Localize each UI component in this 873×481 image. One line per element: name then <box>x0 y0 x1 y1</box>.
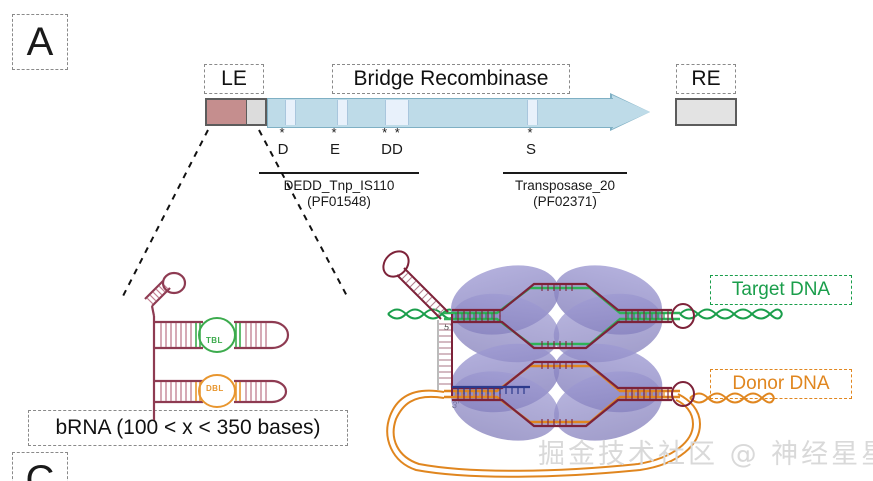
brna-top-hairpin <box>145 273 185 316</box>
brna-dbl-arm <box>154 375 286 407</box>
rna-loop-right-lower <box>672 382 694 406</box>
brna-structure <box>145 273 288 420</box>
leader-lines <box>122 130 348 298</box>
figure-root: A C LE Bridge Recombinase RE * D * E <box>0 0 873 481</box>
brna-tbl-arm <box>154 318 288 352</box>
brna-hairpin-upper-loop <box>378 246 413 281</box>
leader-line-left <box>122 130 208 298</box>
donor-dna-right-arm <box>690 394 774 403</box>
brna-hairpin-upper <box>378 246 448 319</box>
watermark: 掘金技术社区 @ 神经星星 <box>538 432 873 471</box>
target-dna-right-arm <box>680 310 782 319</box>
dbl-loop-bubble <box>199 375 235 407</box>
tbl-loop-bubble <box>199 318 235 352</box>
leader-line-right <box>259 130 348 298</box>
figure-graphics <box>0 0 873 481</box>
brna-vertical-linker <box>438 314 452 396</box>
